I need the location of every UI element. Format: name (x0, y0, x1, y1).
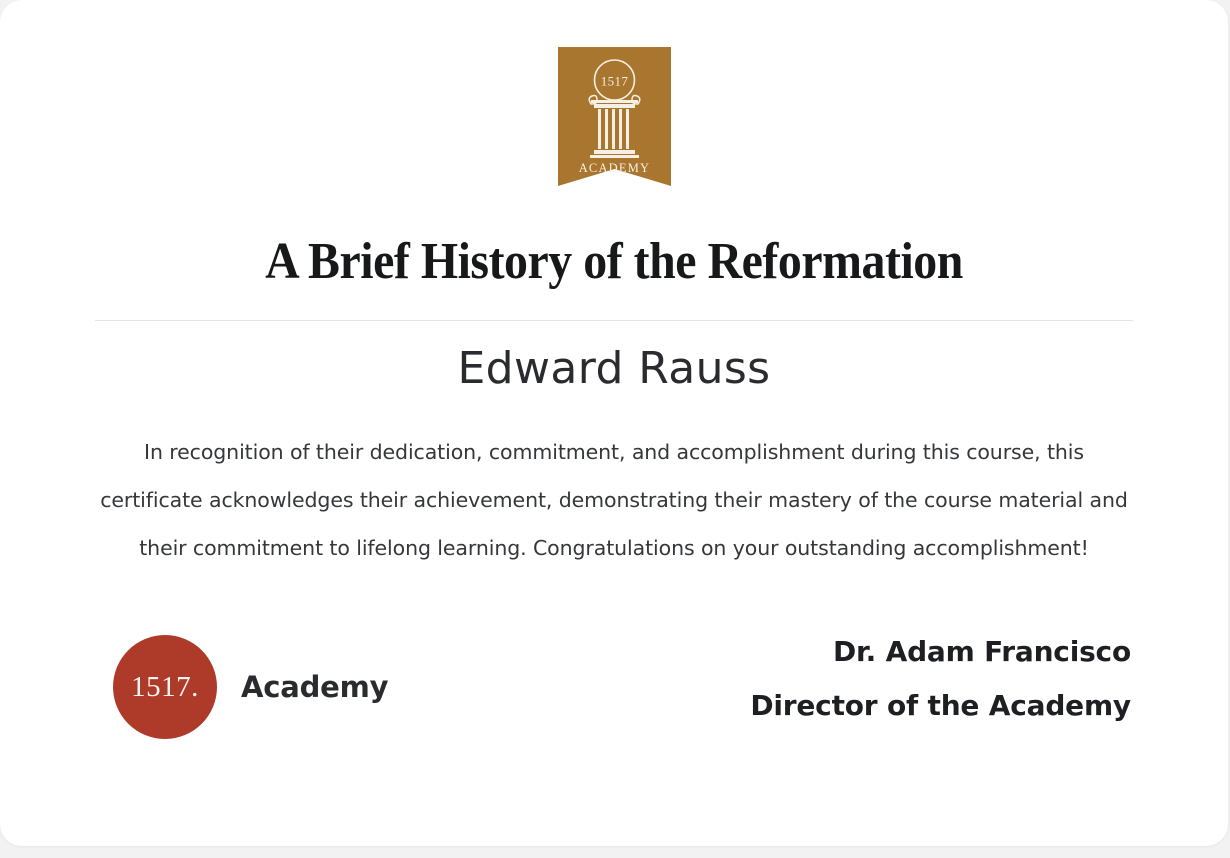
issuer-name-label: Academy (241, 670, 388, 704)
certificate-footer: 1517. Academy Dr. Adam Francisco Directo… (95, 625, 1133, 745)
certificate-body-text: In recognition of their dedication, comm… (95, 428, 1133, 572)
signature-block: Dr. Adam Francisco Director of the Acade… (750, 625, 1131, 733)
certificate-title: A Brief History of the Reformation (49, 232, 1179, 292)
issuer-seal-label: 1517. (131, 673, 199, 702)
logo-wordmark-text: ACADEMY (578, 161, 650, 175)
signer-title: Director of the Academy (750, 679, 1131, 733)
issuer-seal-icon: 1517. (113, 635, 217, 739)
banner-icon: 1517 ACADEMY (558, 47, 671, 186)
certificate-card: 1517 ACADEMY A Brief History of the Refo… (0, 0, 1228, 846)
logo-banner-container: 1517 ACADEMY (0, 47, 1228, 186)
signer-name: Dr. Adam Francisco (750, 625, 1131, 679)
issuer-block: 1517. Academy (113, 635, 388, 739)
recipient-name: Edward Rauss (0, 343, 1228, 394)
academy-logo: 1517 ACADEMY (558, 47, 671, 186)
logo-year-text: 1517 (600, 74, 628, 89)
title-divider (95, 320, 1133, 321)
